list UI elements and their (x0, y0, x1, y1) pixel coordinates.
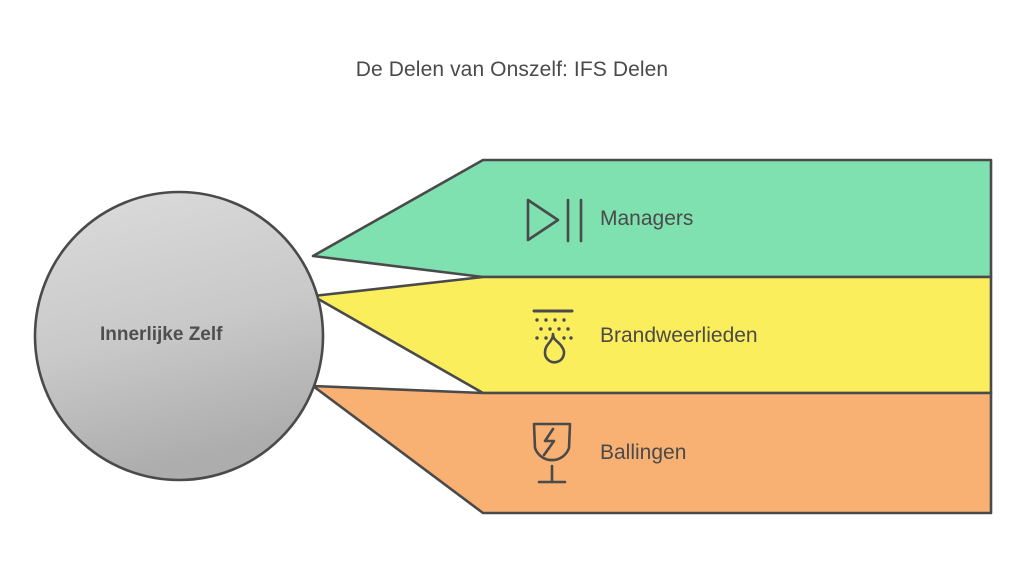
diagram-graphic (0, 0, 1024, 571)
core-label: Innerlijke Zelf (100, 324, 222, 346)
diagram-canvas: De Delen van Onszelf: IFS Delen Innerlij… (0, 0, 1024, 571)
band-label-managers: Managers (600, 207, 693, 231)
page-title: De Delen van Onszelf: IFS Delen (0, 58, 1024, 82)
band-label-ballingen: Ballingen (600, 441, 686, 465)
band-label-brandweerlieden: Brandweerlieden (600, 324, 758, 348)
